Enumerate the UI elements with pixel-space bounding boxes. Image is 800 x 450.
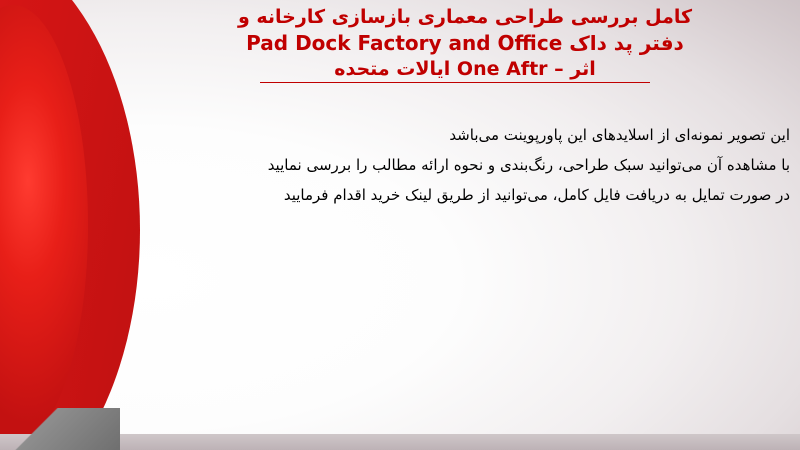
title-line-3: اثر – One Aftr ایالات متحده bbox=[150, 56, 780, 82]
body-line-2: با مشاهده آن می‌توانید سبک طراحی، رنگ‌بن… bbox=[120, 150, 790, 180]
title-line-1: کامل بررسی طراحی معماری بازسازی کارخانه … bbox=[150, 4, 780, 30]
body-line-3: در صورت تمایل به دریافت فایل کامل، می‌تو… bbox=[120, 180, 790, 210]
title-line-2: Pad Dock Factory and Office دفتر پد داک bbox=[150, 30, 780, 56]
slide-title: کامل بررسی طراحی معماری بازسازی کارخانه … bbox=[150, 4, 780, 82]
slide-body: این تصویر نمونه‌ای از اسلایدهای این پاور… bbox=[120, 120, 790, 210]
decorative-bottom-bar bbox=[0, 434, 800, 450]
body-line-1: این تصویر نمونه‌ای از اسلایدهای این پاور… bbox=[120, 120, 790, 150]
title-underline bbox=[260, 82, 650, 83]
decorative-corner-shape bbox=[0, 408, 120, 450]
slide-canvas: کامل بررسی طراحی معماری بازسازی کارخانه … bbox=[0, 0, 800, 450]
